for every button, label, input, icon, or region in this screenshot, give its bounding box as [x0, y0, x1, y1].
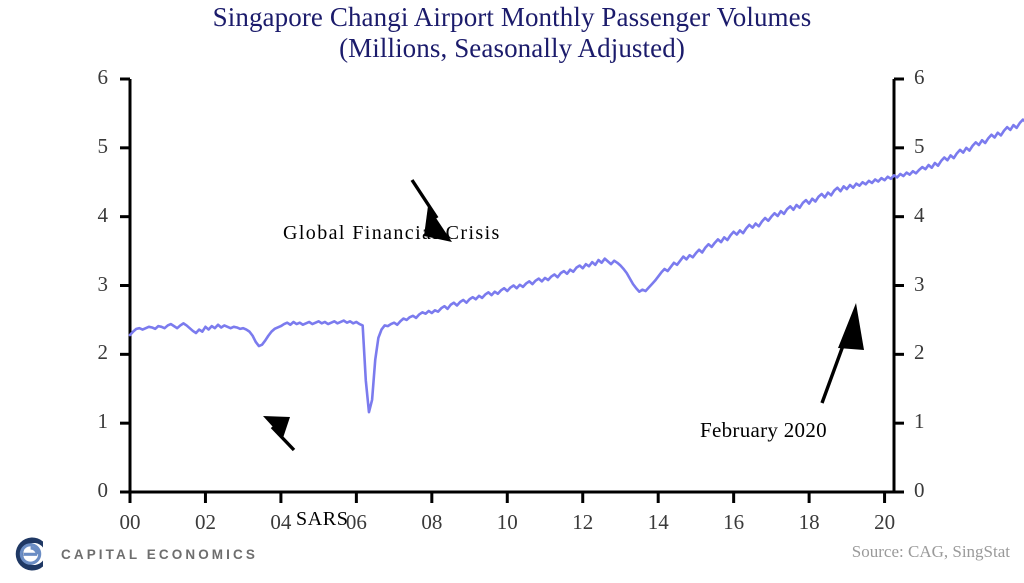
y-tick-label-right: 2 — [914, 340, 940, 365]
annotation-arrows — [263, 180, 864, 450]
y-tick-label-right: 3 — [914, 272, 940, 297]
brand-logo: CAPITAL ECONOMICS — [10, 534, 258, 574]
data-series-line — [130, 88, 1024, 412]
y-tick-label-right: 6 — [914, 65, 940, 90]
sars-arrow-icon — [263, 416, 294, 450]
y-tick-label-right: 5 — [914, 134, 940, 159]
y-tick-label-left: 1 — [82, 409, 108, 434]
annotation-february-2020: February 2020 — [700, 418, 827, 443]
y-tick-label-left: 5 — [82, 134, 108, 159]
y-tick-label-left: 6 — [82, 65, 108, 90]
annotation-global-financial-crisis: Global Financial Crisis — [283, 222, 501, 245]
footer: CAPITAL ECONOMICS Source: CAG, SingStat — [0, 528, 1024, 583]
line-chart-plot — [0, 60, 1024, 530]
title-line-1: Singapore Changi Airport Monthly Passeng… — [0, 2, 1024, 33]
y-tick-label-right: 0 — [914, 478, 940, 503]
y-tick-label-left: 3 — [82, 272, 108, 297]
chart-area: 001122334455660002040608101214161820 Glo… — [0, 60, 1024, 530]
page-title: Singapore Changi Airport Monthly Passeng… — [0, 2, 1024, 64]
y-tick-label-right: 4 — [914, 203, 940, 228]
chart-page: Singapore Changi Airport Monthly Passeng… — [0, 0, 1024, 583]
capital-economics-logo-icon — [10, 534, 50, 574]
y-tick-label-left: 0 — [82, 478, 108, 503]
x-axis-ticks — [130, 492, 885, 503]
source-note: Source: CAG, SingStat — [852, 542, 1010, 562]
brand-logo-text: CAPITAL ECONOMICS — [61, 547, 258, 562]
y-tick-label-left: 4 — [82, 203, 108, 228]
y-tick-label-left: 2 — [82, 340, 108, 365]
february-2020-arrow-icon — [822, 303, 864, 403]
y-tick-label-right: 1 — [914, 409, 940, 434]
